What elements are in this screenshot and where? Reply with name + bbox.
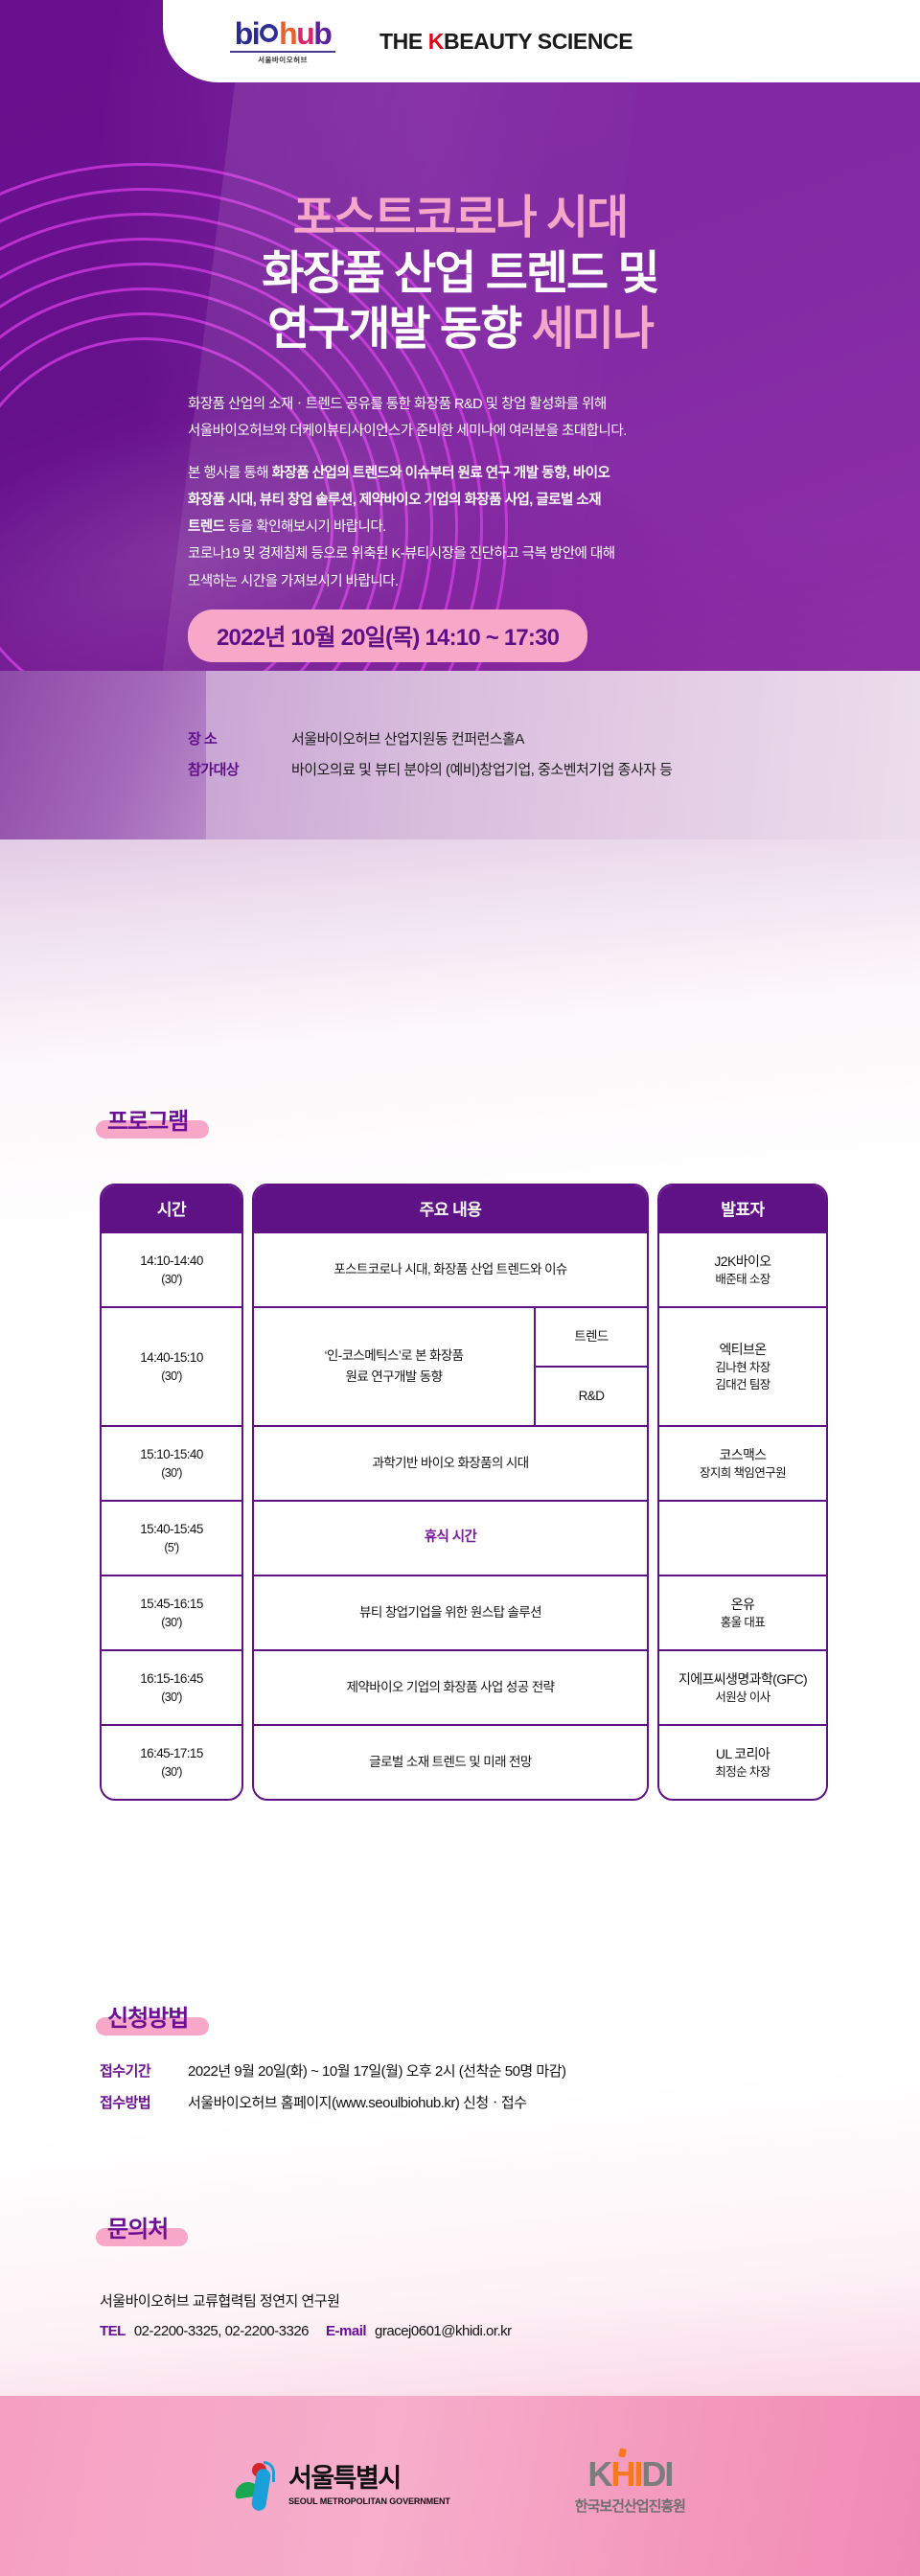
kbeauty-k: K bbox=[428, 29, 444, 54]
desc-p2-pre: 본 행사를 통해 bbox=[188, 466, 272, 481]
table-row: J2K바이오 배준태 소장 bbox=[659, 1231, 826, 1306]
contact-tel-label: TEL bbox=[100, 2323, 126, 2339]
info-value-venue: 서울바이오허브 산업지원동 컨퍼런스홀A bbox=[291, 728, 524, 748]
table-row: 과학기반 바이오 화장품의 시대 bbox=[254, 1425, 647, 1500]
cell-duration: (5') bbox=[164, 1539, 178, 1556]
program-header-time: 시간 bbox=[102, 1185, 241, 1231]
seoul-logo-kr: 서울특별시 bbox=[288, 2466, 450, 2492]
cell-organization: 코스맥스 bbox=[719, 1445, 766, 1464]
khidi-letter-k: K bbox=[587, 2457, 610, 2492]
table-row: 14:10-14:40 (30') bbox=[102, 1231, 241, 1306]
cell-speaker-name: 최정순 차장 bbox=[715, 1763, 770, 1781]
program-header-speaker: 발표자 bbox=[659, 1185, 826, 1231]
seoul-logo-en: SEOUL METROPOLITAN GOVERNMENT bbox=[288, 2496, 450, 2506]
table-row: 16:45-17:15 (30') bbox=[102, 1724, 241, 1799]
biohub-logo: bihub 서울바이오허브 bbox=[230, 18, 335, 65]
desc-p2-line1: 본 행사를 통해 화장품 산업의 트렌드와 이슈부터 원료 연구 개발 동향, … bbox=[188, 460, 849, 487]
section-heading-apply-label: 신청방법 bbox=[107, 2006, 188, 2032]
desc-p2-line3: 트렌드 등을 확인해보시기 바랍니다. bbox=[188, 514, 849, 540]
kbeauty-science-logo: THE KBEAUTY SCIENCE bbox=[379, 29, 632, 55]
table-row: 제약바이오 기업의 화장품 사업 성공 전략 bbox=[254, 1649, 647, 1724]
header-bar: bihub 서울바이오허브 THE KBEAUTY SCIENCE bbox=[163, 0, 920, 82]
cell-speaker-name: 홍울 대표 bbox=[721, 1614, 765, 1631]
table-row: 지에프씨생명과학(GFC) 서원상 이사 bbox=[659, 1649, 826, 1724]
cell-duration: (30') bbox=[161, 1271, 182, 1288]
apply-row-method: 접수방법 서울바이오허브 홈페이지(www.seoulbiohub.kr) 신청… bbox=[100, 2092, 566, 2112]
contact-email-label: E-mail bbox=[326, 2323, 366, 2339]
cell-duration: (30') bbox=[161, 1614, 182, 1631]
table-row: UL 코리아 최정순 차장 bbox=[659, 1724, 826, 1799]
section-heading-program-label: 프로그램 bbox=[107, 1109, 188, 1135]
cell-time: 15:45-16:15 bbox=[140, 1595, 202, 1614]
cell-speaker-name: 김나현 차장 bbox=[715, 1359, 770, 1376]
cell-duration: (30') bbox=[161, 1763, 182, 1781]
cell-time: 16:45-17:15 bbox=[140, 1744, 202, 1763]
biohub-logo-subtext: 서울바이오허브 bbox=[258, 55, 308, 65]
desc-p2-bold3: 트렌드 bbox=[188, 519, 225, 535]
program-column-content: 주요 내용 포스트코로나 시대, 화장품 산업 트렌드와 이슈 ‘인-코스메틱스… bbox=[252, 1184, 649, 1801]
seoul-metropolitan-government-logo: 서울특별시 SEOUL METROPOLITAN GOVERNMENT bbox=[235, 2461, 450, 2511]
contact-email-value: gracej0601@khidi.or.kr bbox=[375, 2323, 512, 2339]
table-row: 14:40-15:10 (30') bbox=[102, 1306, 241, 1425]
cell-time: 14:40-15:10 bbox=[140, 1348, 202, 1368]
khidi-letters-di: DI bbox=[641, 2457, 672, 2492]
contact-person: 서울바이오허브 교류협력팀 정연지 연구원 bbox=[100, 2290, 512, 2311]
cell-content: 뷰티 창업기업을 위한 원스탑 솔루션 bbox=[359, 1603, 541, 1622]
cell-speaker-name: 장지희 책임연구원 bbox=[700, 1464, 786, 1482]
section-heading-apply: 신청방법 bbox=[103, 1999, 192, 2033]
gear-icon bbox=[260, 24, 278, 42]
table-row: 15:10-15:40 (30') bbox=[102, 1425, 241, 1500]
title-line-1: 포스트코로나 시대 bbox=[0, 192, 920, 245]
footer-bar: 서울특별시 SEOUL METROPOLITAN GOVERNMENT KHID… bbox=[0, 2396, 920, 2576]
program-table: 시간 14:10-14:40 (30') 14:40-15:10 (30') 1… bbox=[100, 1184, 828, 1801]
cell-time: 16:15-16:45 bbox=[140, 1669, 202, 1689]
table-row: 16:15-16:45 (30') bbox=[102, 1649, 241, 1724]
info-label-audience: 참가대상 bbox=[188, 759, 291, 779]
title-line-3-white: 연구개발 동향 bbox=[267, 304, 532, 355]
contact-details: TEL02-2200-3325, 02-2200-3326E-mailgrace… bbox=[100, 2323, 512, 2339]
desc-p2-bold2: 화장품 시대, 뷰티 창업 솔루션, 제약바이오 기업의 화장품 사업, 글로벌… bbox=[188, 493, 601, 508]
title-line-3-pink: 세미나 bbox=[532, 304, 653, 355]
desc-p2-line2: 화장품 시대, 뷰티 창업 솔루션, 제약바이오 기업의 화장품 사업, 글로벌… bbox=[188, 487, 849, 514]
program-column-time: 시간 14:10-14:40 (30') 14:40-15:10 (30') 1… bbox=[100, 1184, 243, 1801]
desc-p2-bold1: 화장품 산업의 트렌드와 이슈부터 원료 연구 개발 동향, 바이오 bbox=[272, 466, 610, 481]
desc-p2-line5: 모색하는 시간을 가져보시기 바랍니다. bbox=[188, 568, 849, 595]
seoul-emblem-icon bbox=[235, 2461, 277, 2511]
table-row: 포스트코로나 시대, 화장품 산업 트렌드와 이슈 bbox=[254, 1231, 647, 1306]
cell-content: ‘인-코스메틱스’로 본 화장품 원료 연구개발 동향 bbox=[254, 1308, 534, 1425]
program-header-content: 주요 내용 bbox=[254, 1185, 647, 1231]
program-column-speaker: 발표자 J2K바이오 배준태 소장 엑티브온 김나현 차장 김대건 팀장 코스맥… bbox=[657, 1184, 828, 1801]
cell-organization: 온유 bbox=[731, 1595, 755, 1614]
table-row: 온유 홍울 대표 bbox=[659, 1575, 826, 1649]
apply-info-list: 접수기간 2022년 9월 20일(화) ~ 10월 17일(월) 오후 2시 … bbox=[100, 2060, 566, 2124]
cell-organization: 지에프씨생명과학(GFC) bbox=[678, 1669, 807, 1689]
cell-subtopic-rnd: R&D bbox=[536, 1366, 647, 1425]
desc-p2-line4: 코로나19 및 경제침체 등으로 위축된 K-뷰티시장을 진단하고 극복 방안에… bbox=[188, 540, 849, 567]
cell-content-break: 휴식 시간 bbox=[425, 1528, 476, 1548]
table-row: ‘인-코스메틱스’로 본 화장품 원료 연구개발 동향 트렌드 R&D bbox=[254, 1306, 647, 1425]
table-row bbox=[659, 1500, 826, 1575]
desc-p1-line2: 서울바이오허브와 더케이뷰티사이언스가 준비한 세미나에 여러분을 초대합니다. bbox=[188, 418, 849, 445]
cell-time: 15:40-15:45 bbox=[140, 1520, 202, 1539]
table-row: 코스맥스 장지희 책임연구원 bbox=[659, 1425, 826, 1500]
cell-duration: (30') bbox=[161, 1368, 182, 1385]
table-row: 15:45-16:15 (30') bbox=[102, 1575, 241, 1649]
apply-label-method: 접수방법 bbox=[100, 2092, 188, 2112]
biohub-wordmark: bihub bbox=[235, 18, 332, 49]
cell-speaker-name: 배준태 소장 bbox=[715, 1271, 770, 1288]
event-info-list: 장 소 서울바이오허브 산업지원동 컨퍼런스홀A 참가대상 바이오의료 및 뷰티… bbox=[188, 728, 672, 790]
cell-duration: (30') bbox=[161, 1689, 182, 1706]
kbeauty-post: BEAUTY SCIENCE bbox=[444, 29, 632, 54]
event-date-badge: 2022년 10월 20일(목) 14:10 ~ 17:30 bbox=[188, 609, 587, 662]
info-label-venue: 장 소 bbox=[188, 728, 291, 748]
cell-organization: J2K바이오 bbox=[714, 1252, 770, 1271]
table-row: 휴식 시간 bbox=[254, 1500, 647, 1575]
section-heading-contact-label: 문의처 bbox=[107, 2217, 168, 2242]
khidi-letter-h: H bbox=[610, 2457, 633, 2492]
cell-speaker-name: 서원상 이사 bbox=[715, 1689, 770, 1706]
title-line-3: 연구개발 동향 세미나 bbox=[0, 303, 920, 356]
cell-content: 포스트코로나 시대, 화장품 산업 트렌드와 이슈 bbox=[333, 1260, 566, 1279]
cell-content-subtopics: 트렌드 R&D bbox=[534, 1308, 647, 1425]
cell-time: 14:10-14:40 bbox=[140, 1252, 202, 1271]
cell-content-line1: ‘인-코스메틱스’로 본 화장품 bbox=[324, 1345, 463, 1367]
section-heading-contact: 문의처 bbox=[103, 2210, 172, 2243]
khidi-letter-i: I bbox=[633, 2457, 641, 2492]
cell-subtopic-trend: 트렌드 bbox=[536, 1308, 647, 1366]
khidi-logo: KHIDI 한국보건산업진흥원 bbox=[575, 2457, 685, 2516]
desc-p2-post: 등을 확인해보시기 바랍니다. bbox=[225, 519, 386, 535]
cell-speaker-name: 김대건 팀장 bbox=[715, 1376, 770, 1393]
logo-divider bbox=[230, 51, 335, 53]
info-row-audience: 참가대상 바이오의료 및 뷰티 분야의 (예비)창업기업, 중소벤처기업 종사자… bbox=[188, 759, 672, 779]
section-heading-program: 프로그램 bbox=[103, 1102, 192, 1136]
kbeauty-pre: THE bbox=[379, 29, 428, 54]
table-row: 15:40-15:45 (5') bbox=[102, 1500, 241, 1575]
apply-label-period: 접수기간 bbox=[100, 2060, 188, 2081]
contact-tel-value: 02-2200-3325, 02-2200-3326 bbox=[134, 2323, 309, 2339]
cell-content: 제약바이오 기업의 화장품 사업 성공 전략 bbox=[347, 1678, 555, 1697]
info-row-venue: 장 소 서울바이오허브 산업지원동 컨퍼런스홀A bbox=[188, 728, 672, 748]
cell-organization: 엑티브온 bbox=[719, 1340, 766, 1359]
desc-p1-line1: 화장품 산업의 소재ㆍ트렌드 공유를 통한 화장품 R&D 및 창업 활성화를 … bbox=[188, 391, 849, 418]
khidi-logo-kr: 한국보건산업진흥원 bbox=[575, 2495, 685, 2516]
table-row: 엑티브온 김나현 차장 김대건 팀장 bbox=[659, 1306, 826, 1425]
info-value-audience: 바이오의료 및 뷰티 분야의 (예비)창업기업, 중소벤처기업 종사자 등 bbox=[291, 759, 672, 779]
table-row: 뷰티 창업기업을 위한 원스탑 솔루션 bbox=[254, 1575, 647, 1649]
cell-organization: UL 코리아 bbox=[716, 1744, 770, 1763]
description-block: 화장품 산업의 소재ㆍ트렌드 공유를 통한 화장품 R&D 및 창업 활성화를 … bbox=[188, 391, 849, 595]
apply-row-period: 접수기간 2022년 9월 20일(화) ~ 10월 17일(월) 오후 2시 … bbox=[100, 2060, 566, 2081]
cell-time: 15:10-15:40 bbox=[140, 1445, 202, 1464]
table-row: 글로벌 소재 트렌드 및 미래 전망 bbox=[254, 1724, 647, 1799]
apply-value-method: 서울바이오허브 홈페이지(www.seoulbiohub.kr) 신청ㆍ접수 bbox=[188, 2092, 527, 2112]
contact-info-list: 서울바이오허브 교류협력팀 정연지 연구원 TEL02-2200-3325, 0… bbox=[100, 2290, 512, 2352]
cell-content: 과학기반 바이오 화장품의 시대 bbox=[372, 1454, 528, 1473]
apply-value-period: 2022년 9월 20일(화) ~ 10월 17일(월) 오후 2시 (선착순 … bbox=[188, 2060, 566, 2081]
title-line-2: 화장품 산업 트렌드 및 bbox=[0, 247, 920, 301]
cell-content-line2: 원료 연구개발 동향 bbox=[324, 1367, 463, 1388]
cell-content: 글로벌 소재 트렌드 및 미래 전망 bbox=[369, 1753, 531, 1772]
cell-duration: (30') bbox=[161, 1464, 182, 1482]
